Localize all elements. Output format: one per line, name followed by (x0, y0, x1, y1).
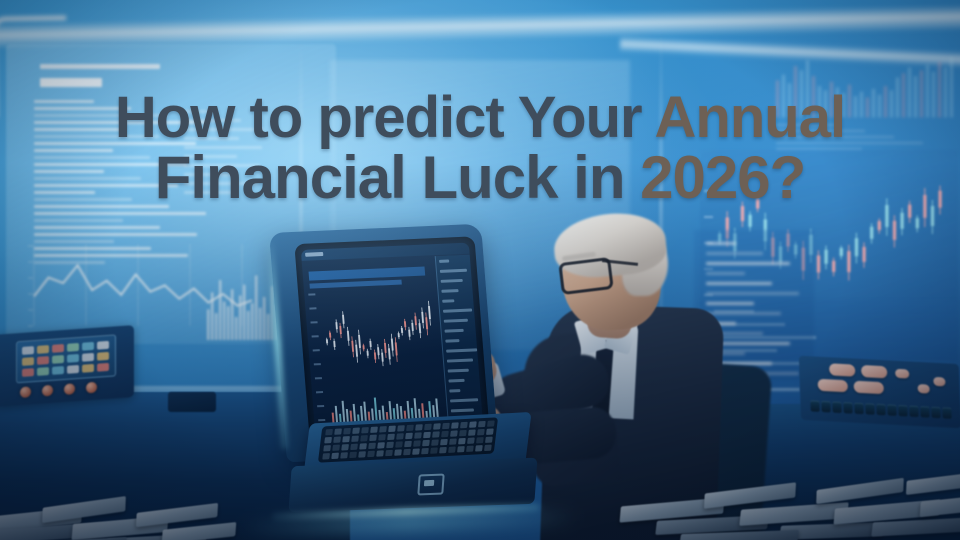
screen-side-row (448, 369, 469, 373)
data-row (34, 219, 123, 222)
console-button[interactable] (861, 365, 887, 378)
data-row (34, 121, 205, 124)
console-keypad-key[interactable] (810, 400, 819, 411)
console-button[interactable] (933, 377, 945, 387)
screen-subrow (309, 280, 401, 289)
banknote-stack (136, 503, 218, 527)
keyboard-key[interactable] (333, 437, 341, 443)
console-button[interactable] (818, 379, 848, 393)
banknote-stack (704, 482, 796, 508)
thumbnail-canvas: How to predict Your Annual Financial Luc… (0, 0, 960, 540)
keyboard-key[interactable] (376, 450, 384, 456)
keyboard-key[interactable] (424, 424, 432, 430)
keyboard-key[interactable] (439, 447, 447, 453)
console-key[interactable] (37, 367, 49, 376)
keyboard-key[interactable] (457, 446, 465, 452)
console-key[interactable] (22, 357, 34, 366)
screen-side-row (445, 329, 464, 333)
data-row (34, 142, 196, 145)
keyboard-key[interactable] (340, 452, 348, 458)
keyboard-key[interactable] (485, 437, 493, 443)
data-row (34, 205, 169, 208)
screen-axis-tick (315, 377, 322, 379)
keyboard-key[interactable] (369, 435, 377, 441)
console-key[interactable] (82, 342, 94, 351)
keyboard-key[interactable] (331, 453, 339, 459)
keyboard-key[interactable] (414, 432, 422, 438)
terminal-emblem-icon (417, 474, 444, 496)
console-keypad-key[interactable] (865, 403, 874, 414)
console-key[interactable] (22, 368, 34, 377)
screen-side-row (439, 259, 449, 262)
data-row (34, 135, 159, 138)
keyboard-key[interactable] (475, 445, 483, 451)
keyboard-key[interactable] (432, 431, 440, 437)
keyboard-key[interactable] (442, 423, 450, 429)
keyboard-key[interactable] (350, 444, 358, 450)
keyboard-key[interactable] (385, 450, 393, 456)
titlebar-label (305, 252, 323, 257)
data-row (34, 226, 160, 229)
console-key[interactable] (52, 355, 64, 364)
keyboard-key[interactable] (395, 441, 403, 447)
keyboard-key[interactable] (406, 425, 414, 431)
banknote-stack (920, 494, 960, 517)
console-keypad-key[interactable] (887, 404, 896, 415)
data-row (34, 107, 131, 110)
keyboard-key[interactable] (386, 442, 394, 448)
keyboard-key[interactable] (415, 424, 423, 430)
keyboard-key[interactable] (477, 429, 485, 435)
keyboard-key[interactable] (323, 445, 331, 451)
banknote-stack (906, 471, 960, 495)
keyboard-key[interactable] (396, 433, 404, 439)
keyboard-key[interactable] (467, 438, 475, 444)
keyboard-key[interactable] (423, 432, 431, 438)
data-row (184, 191, 233, 194)
data-row (184, 137, 239, 140)
keyboard-key[interactable] (469, 421, 477, 427)
data-row (34, 163, 187, 166)
data-row (184, 110, 218, 113)
keyboard-key[interactable] (370, 427, 378, 433)
keyboard-key[interactable] (379, 426, 387, 432)
data-row (184, 182, 258, 185)
console-key[interactable] (37, 356, 49, 365)
screen-side-row (451, 408, 474, 412)
keyboard-key[interactable] (361, 427, 369, 433)
console-key[interactable] (97, 341, 109, 350)
keyboard-key[interactable] (397, 425, 405, 431)
keyboard-key[interactable] (324, 437, 332, 443)
banknote-stack (816, 478, 904, 504)
console-key[interactable] (67, 354, 79, 363)
control-console-left[interactable] (0, 325, 134, 407)
console-key[interactable] (97, 352, 109, 361)
screen-axis-tick (316, 391, 323, 393)
keyboard-key[interactable] (359, 443, 367, 449)
keyboard-key[interactable] (468, 429, 476, 435)
keyboard-key[interactable] (322, 453, 330, 459)
console-keypad-key[interactable] (854, 403, 863, 414)
console-knob[interactable] (42, 385, 53, 397)
data-row (184, 164, 260, 167)
keyboard-key[interactable] (352, 427, 360, 433)
console-knob[interactable] (20, 386, 31, 398)
keyboard-key[interactable] (405, 433, 413, 439)
keyboard-key[interactable] (360, 435, 368, 441)
keyboard-key[interactable] (459, 430, 467, 436)
keyboard-key[interactable] (458, 438, 466, 444)
keyboard-key[interactable] (404, 441, 412, 447)
keyboard-key[interactable] (342, 436, 350, 442)
data-row (34, 149, 113, 152)
banknote-stacks-right (620, 458, 960, 540)
keyboard-key[interactable] (341, 444, 349, 450)
data-row (34, 100, 94, 103)
keyboard-key[interactable] (413, 440, 421, 446)
keyboard-key[interactable] (449, 438, 457, 444)
console-keypad-key[interactable] (909, 406, 918, 417)
screen-side-row (441, 289, 458, 293)
data-row (34, 184, 178, 187)
keyboard-key[interactable] (358, 451, 366, 457)
console-keypad-key[interactable] (920, 406, 929, 417)
data-row (184, 155, 237, 158)
console-keypad-key[interactable] (931, 407, 940, 418)
console-keypad-key[interactable] (942, 407, 951, 418)
screen-axis-tick (318, 419, 325, 421)
keyboard-key[interactable] (387, 434, 395, 440)
data-row (184, 119, 241, 122)
banknote-stack (162, 522, 237, 540)
screen-side-row (449, 389, 460, 392)
screen-axis-tick (314, 363, 321, 365)
keyboard-key[interactable] (487, 420, 495, 426)
console-button[interactable] (854, 381, 884, 395)
keyboard-key[interactable] (367, 451, 375, 457)
console-button[interactable] (829, 363, 855, 376)
console-key[interactable] (52, 344, 64, 353)
desk-object (168, 392, 216, 412)
console-button[interactable] (895, 369, 909, 379)
screen-side-row (440, 269, 467, 273)
console-keypad-key[interactable] (876, 404, 885, 415)
screen-side-row (450, 398, 478, 402)
data-row (184, 128, 264, 131)
console-key[interactable] (67, 343, 79, 352)
data-row (34, 177, 141, 180)
screen-side-row (442, 299, 454, 303)
trading-terminal[interactable] (268, 222, 540, 522)
screen-axis-tick (317, 405, 324, 407)
keyboard-key[interactable] (466, 446, 474, 452)
screen-side-row (445, 339, 459, 343)
data-row (184, 146, 262, 149)
data-row (34, 128, 122, 131)
screen-axis-tick (310, 321, 317, 323)
screen-side-row (447, 358, 473, 362)
console-button[interactable] (918, 384, 930, 394)
keyboard-key[interactable] (451, 422, 459, 428)
banknote-stack (739, 502, 848, 526)
keyboard-key[interactable] (460, 422, 468, 428)
keyboard-key[interactable] (448, 447, 456, 453)
screen-axis-tick (308, 293, 315, 295)
keyboard-key[interactable] (334, 428, 342, 434)
keyboard-key[interactable] (431, 439, 439, 445)
keyboard-key[interactable] (430, 447, 438, 453)
monitor-screen[interactable] (301, 243, 483, 434)
console-keypad-key[interactable] (832, 402, 841, 413)
keyboard-key[interactable] (440, 439, 448, 445)
data-row (34, 191, 95, 194)
keyboard-key[interactable] (403, 449, 411, 455)
data-row (34, 156, 150, 159)
keyboard-key[interactable] (394, 449, 402, 455)
screen-axis-tick (313, 349, 320, 351)
keyboard-key[interactable] (441, 431, 449, 437)
keyboard-key[interactable] (368, 443, 376, 449)
console-keypad-key[interactable] (898, 405, 907, 416)
console-knob[interactable] (64, 383, 75, 395)
keyboard-key[interactable] (484, 445, 492, 451)
screen-selected-row (309, 267, 426, 281)
screen-side-row (448, 379, 464, 383)
keyboard-key[interactable] (325, 429, 333, 435)
keyboard-key[interactable] (476, 437, 484, 443)
data-row (34, 212, 206, 215)
keyboard-key[interactable] (332, 445, 340, 451)
keyboard-key[interactable] (412, 448, 420, 454)
screen-side-row (443, 309, 472, 313)
console-key[interactable] (52, 366, 64, 375)
console-key[interactable] (97, 363, 109, 372)
control-console-right[interactable] (799, 348, 960, 443)
banknote-stacks-left (0, 486, 236, 540)
console-screen (16, 334, 116, 383)
banknote-stack (42, 496, 126, 523)
screen-side-row (444, 319, 468, 323)
keyboard-key[interactable] (343, 428, 351, 434)
console-knob[interactable] (86, 382, 97, 394)
screen-candlestick-chart (320, 288, 439, 389)
panel-header-block (40, 78, 102, 87)
console-keypad-key[interactable] (821, 401, 830, 412)
keyboard-key[interactable] (486, 428, 494, 434)
keyboard-key[interactable] (478, 421, 486, 427)
keyboard-key[interactable] (433, 423, 441, 429)
console-key[interactable] (37, 345, 49, 354)
keyboard-key[interactable] (377, 442, 385, 448)
eyeglasses-lens (558, 257, 614, 295)
wall-display-top-right (772, 20, 960, 150)
panel-header-line (40, 64, 160, 69)
console-key[interactable] (82, 364, 94, 373)
keyboard-key[interactable] (388, 426, 396, 432)
keyboard-key[interactable] (349, 452, 357, 458)
keyboard-key[interactable] (422, 440, 430, 446)
keyboard-key[interactable] (378, 434, 386, 440)
screen-axis-tick (309, 307, 316, 309)
console-keypad-key[interactable] (843, 402, 852, 413)
data-row (34, 198, 132, 201)
data-row (34, 170, 104, 173)
console-key[interactable] (82, 353, 94, 362)
screen-side-row (441, 279, 463, 283)
console-key[interactable] (67, 365, 79, 374)
screen-axis-tick (312, 335, 319, 337)
screen-side-row (446, 348, 477, 352)
console-key[interactable] (22, 346, 34, 355)
data-row (34, 114, 168, 117)
banknote-stack (871, 517, 960, 536)
data-row (184, 173, 235, 176)
keyboard-key[interactable] (450, 430, 458, 436)
keyboard-key[interactable] (351, 436, 359, 442)
keyboard-key[interactable] (421, 448, 429, 454)
